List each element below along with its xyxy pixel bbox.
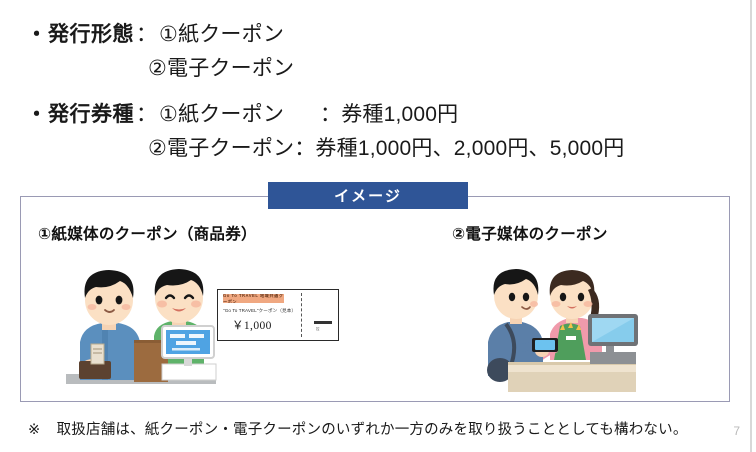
bullet-label-denomination: 発行券種 [48, 98, 134, 128]
slide-edge-rule [750, 0, 752, 452]
panel-column-label-paper: ①紙媒体のクーポン（商品券） [38, 222, 257, 244]
page-number: 7 [733, 424, 740, 438]
bullet-marker: ・ [26, 24, 48, 45]
bullet-value-paper-coupon: ①紙クーポン [159, 18, 284, 48]
bullet-colon: ： [134, 18, 159, 48]
coupon-brand-banner: Go To TRAVEL 地域共通クーポン [223, 294, 284, 303]
bullet-row-issue-format: ・ 発行形態 ： ①紙クーポン [26, 18, 740, 48]
paper-coupon-sample: Go To TRAVEL 地域共通クーポン "Go To TRAVEL"クーポン… [217, 289, 339, 341]
bullet-marker: ・ [26, 104, 48, 125]
panel-column-label-electronic: ②電子媒体のクーポン [452, 222, 608, 244]
bullet-value-electronic-denomination: ②電子クーポン：券種1,000円、2,000円、5,000円 [148, 132, 624, 162]
coupon-perforation-line [301, 293, 302, 337]
bullet-row-denomination: ・ 発行券種 ： ①紙クーポン ：券種1,000円 [26, 98, 740, 128]
bullet-colon: ： [134, 98, 159, 128]
footnote: ※ 取扱店舗は、紙クーポン・電子クーポンのいずれか一方のみを取り扱うこととしても… [28, 418, 688, 439]
coupon-subtitle: "Go To TRAVEL"クーポン（見本） [223, 308, 296, 314]
footnote-marker: ※ [28, 422, 52, 438]
paper-coupon-scene-illustration [58, 248, 238, 396]
footnote-text: 取扱店舗は、紙クーポン・電子クーポンのいずれか一方のみを取り扱うこととしても構わ… [57, 422, 688, 438]
coupon-stub-label: 控 [316, 326, 319, 331]
bullet-row-issue-format-second: ②電子クーポン [26, 52, 740, 82]
bullet-label-issue-format: 発行形態 [48, 18, 134, 48]
bullet-value-paper-denomination-amount: ：券種1,000円 [320, 98, 458, 128]
coupon-stub-bar [314, 321, 332, 324]
electronic-coupon-scene-illustration [478, 252, 650, 398]
coupon-amount: ￥1,000 [232, 317, 272, 333]
bullet-row-denomination-second: ②電子クーポン：券種1,000円、2,000円、5,000円 [26, 132, 740, 162]
bullet-list: ・ 発行形態 ： ①紙クーポン ②電子クーポン ・ 発行券種 ： ①紙クーポン … [26, 12, 740, 162]
image-panel-banner: イメージ [268, 182, 468, 209]
bullet-value-paper-denomination-name: ①紙クーポン [159, 98, 284, 128]
bullet-value-electronic-coupon: ②電子クーポン [148, 52, 294, 82]
